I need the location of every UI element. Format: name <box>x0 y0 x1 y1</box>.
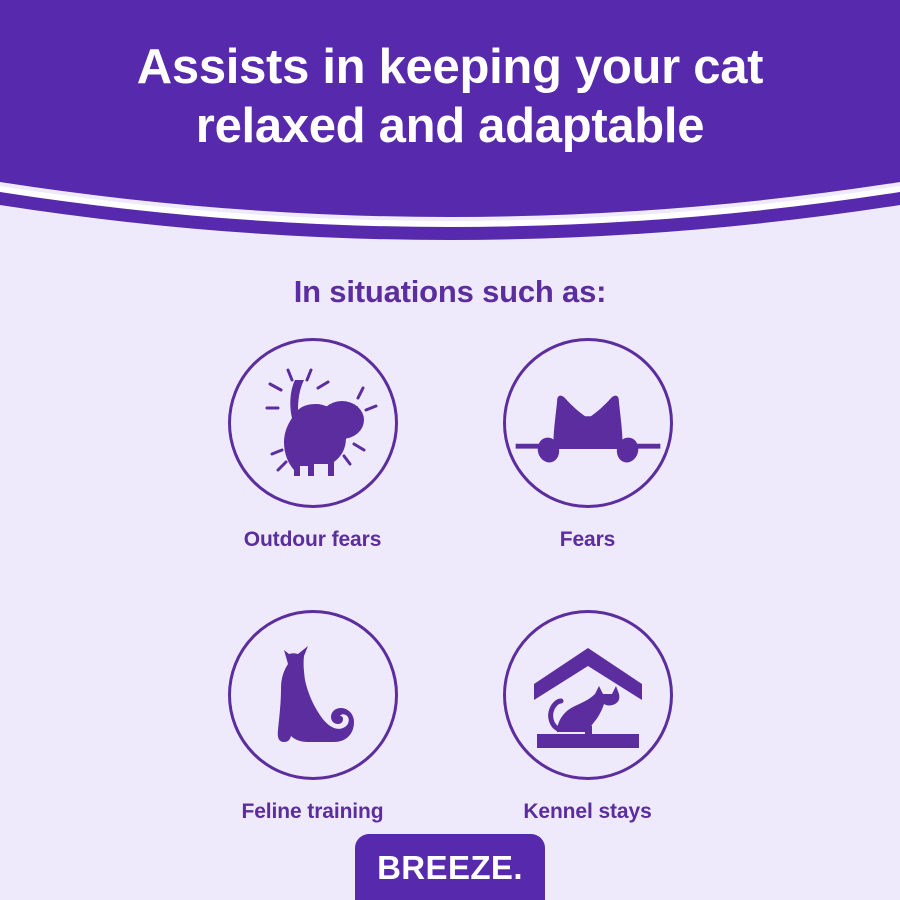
situation-label: Outdour fears <box>244 527 382 553</box>
situations-grid: Outdour fears Fears <box>175 338 725 825</box>
situations-row-2: Feline training <box>175 610 725 825</box>
title-line-2: relaxed and adaptable <box>0 97 900 156</box>
subheading: In situations such as: <box>0 272 900 312</box>
situation-icon-circle <box>503 610 673 780</box>
situation-item-fears[interactable]: Fears <box>450 338 725 553</box>
sitting-cat-silhouette-icon <box>248 630 378 760</box>
situations-row-1: Outdour fears Fears <box>175 338 725 553</box>
situation-item-feline-training[interactable]: Feline training <box>175 610 450 825</box>
situation-icon-circle <box>228 610 398 780</box>
page-title: Assists in keeping your cat relaxed and … <box>0 38 900 156</box>
brand-logo[interactable]: BREEZE. <box>355 834 545 900</box>
situation-label: Feline training <box>241 799 383 825</box>
situation-item-outdour-fears[interactable]: Outdour fears <box>175 338 450 553</box>
situation-icon-circle <box>503 338 673 508</box>
cat-under-roof-icon <box>523 630 653 760</box>
poster-canvas: Assists in keeping your cat relaxed and … <box>0 0 900 900</box>
situation-icon-circle <box>228 338 398 508</box>
brand-logo-text: BREEZE. <box>377 849 523 887</box>
cat-hiding-peeking-icon <box>506 338 670 508</box>
header-banner: Assists in keeping your cat relaxed and … <box>0 0 900 262</box>
title-line-1: Assists in keeping your cat <box>0 38 900 97</box>
situation-label: Fears <box>560 527 616 553</box>
scared-arched-cat-icon <box>248 358 378 488</box>
situation-label: Kennel stays <box>523 799 651 825</box>
situation-item-kennel-stays[interactable]: Kennel stays <box>450 610 725 825</box>
